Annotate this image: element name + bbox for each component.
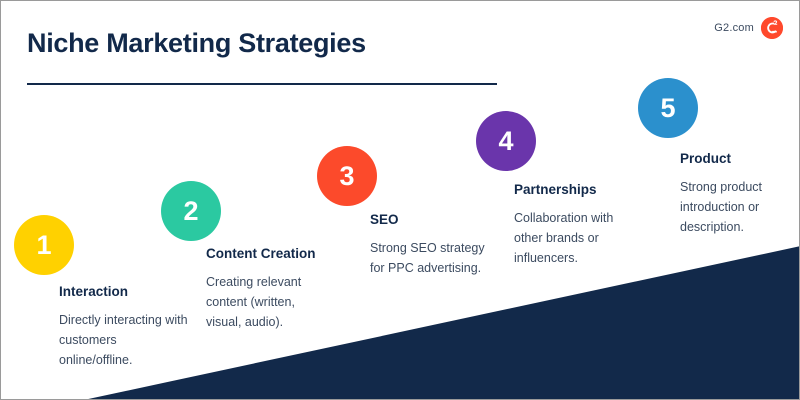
- g2-logo-icon: [761, 17, 783, 39]
- step-3-description: Strong SEO strategy for PPC advertising.: [370, 239, 488, 279]
- step-3-number-badge: 3: [317, 146, 377, 206]
- step-1-title: Interaction: [59, 284, 128, 299]
- step-3-title: SEO: [370, 212, 399, 227]
- step-1-number-badge: 1: [14, 215, 74, 275]
- step-4-description: Collaboration with other brands or influ…: [514, 209, 636, 268]
- infographic-canvas: Niche Marketing Strategies G2.com 1 Inte…: [0, 0, 800, 400]
- title-divider: [27, 83, 497, 85]
- step-5-title: Product: [680, 151, 731, 166]
- page-title: Niche Marketing Strategies: [27, 28, 366, 59]
- step-4-title: Partnerships: [514, 182, 597, 197]
- step-2-description: Creating relevant content (written, visu…: [206, 273, 328, 332]
- step-5-description: Strong product introduction or descripti…: [680, 178, 790, 237]
- step-2-number-badge: 2: [161, 181, 221, 241]
- step-5-number-badge: 5: [638, 78, 698, 138]
- step-4-number-badge: 4: [476, 111, 536, 171]
- brand-name-label: G2.com: [714, 22, 754, 34]
- step-1-description: Directly interacting with customers onli…: [59, 311, 191, 370]
- brand-lockup[interactable]: G2.com: [714, 17, 783, 39]
- step-2-title: Content Creation: [206, 246, 316, 261]
